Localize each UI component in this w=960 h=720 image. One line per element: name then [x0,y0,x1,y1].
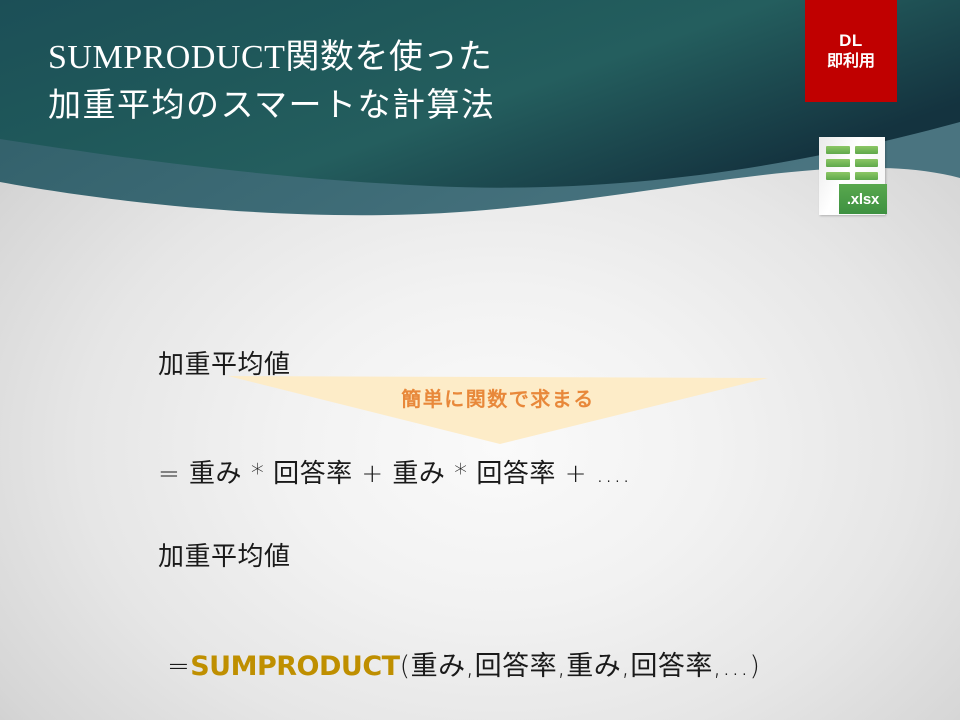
spreadsheet-cells-glyph [826,146,878,180]
formula-sumproduct-line-1: 加重平均値 [158,539,760,575]
download-badge[interactable]: DL 即利用 [805,0,897,102]
title-line-primary: SUMPRODUCT関数を使った [48,36,788,80]
formula-equals-prefix: = [158,651,190,682]
download-badge-line-1: DL [839,30,863,51]
xlsx-file-icon[interactable]: .xlsx [819,137,887,217]
sumproduct-function-name: SUMPRODUCT [190,651,399,682]
formula-sumproduct: 加重平均値 =SUMPRODUCT(重み,回答率,重み,回答率,…) [158,466,760,720]
formula-sumproduct-line-2: =SUMPRODUCT(重み,回答率,重み,回答率,…) [158,648,760,686]
cell-bar [826,159,850,167]
cell-bar [855,159,879,167]
cell-bar [855,146,879,154]
cell-bar [826,172,850,180]
sumproduct-arguments: (重み,回答率,重み,回答率,…) [400,651,761,682]
cell-bar [826,146,850,154]
file-extension-label: .xlsx [839,184,887,214]
cell-bar [855,172,879,180]
down-arrow-banner: 簡単に関数で求まる [228,374,768,446]
slide-canvas: SUMPRODUCT関数を使った 加重平均のスマートな計算法 DL 即利用 .x… [0,0,960,720]
page-title: SUMPRODUCT関数を使った 加重平均のスマートな計算法 [48,36,788,127]
title-line-secondary: 加重平均のスマートな計算法 [48,84,788,127]
download-badge-line-2: 即利用 [827,52,875,72]
arrow-banner-label: 簡単に関数で求まる [228,383,768,412]
